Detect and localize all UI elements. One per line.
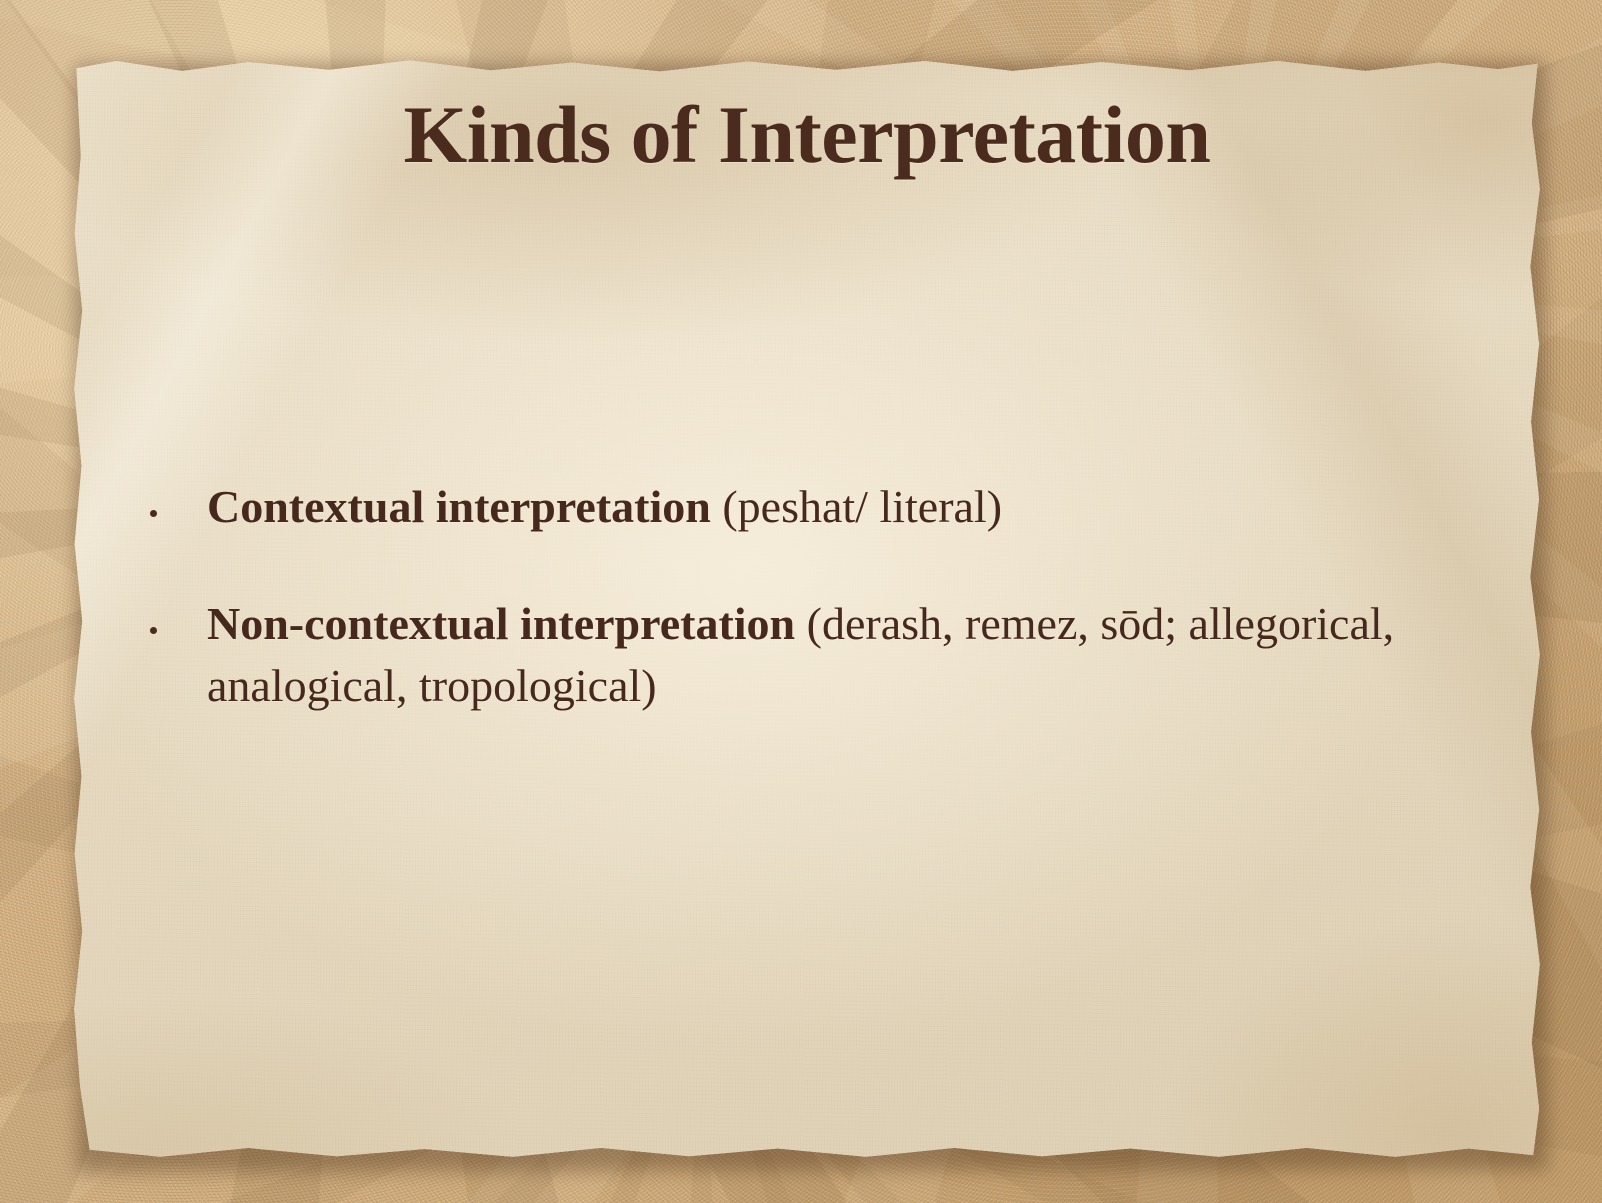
slide-canvas: Kinds of Interpretation Contextual inter… [0,0,1602,1203]
list-item-text: Non-contextual interpretation (derash, r… [207,598,1394,712]
list-item: Contextual interpretation (peshat/ liter… [102,476,1502,539]
dot-bullet-icon [150,627,157,634]
dot-bullet-icon [150,510,157,517]
list-item-text-bold: Non-contextual interpretation [207,598,795,649]
list-item: Non-contextual interpretation (derash, r… [102,593,1502,718]
list-item-text-bold: Contextual interpretation [207,481,711,532]
bullet-list: Contextual interpretation (peshat/ liter… [102,476,1502,772]
list-item-text-plain: (peshat/ literal) [711,481,1002,532]
slide-content: Kinds of Interpretation Contextual inter… [72,56,1542,1164]
list-item-text: Contextual interpretation (peshat/ liter… [207,481,1002,532]
page-title: Kinds of Interpretation [72,92,1542,178]
